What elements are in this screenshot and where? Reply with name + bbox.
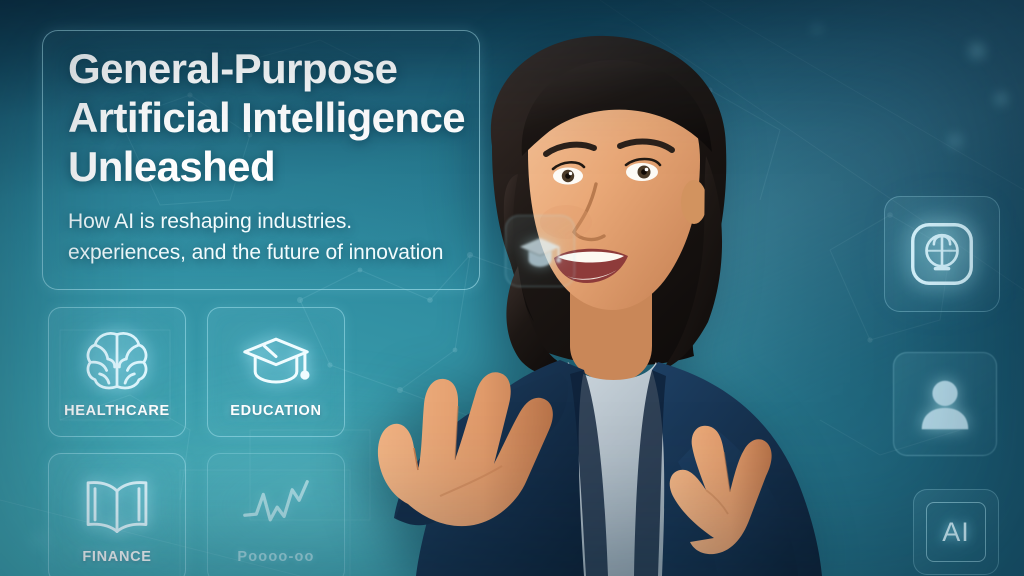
floating-idea-badge[interactable] [884, 196, 1000, 312]
user-silhouette-icon [914, 373, 976, 435]
category-label: Poooo-oo [237, 549, 314, 565]
category-label: HEALTHCARE [64, 403, 170, 419]
category-card-finance[interactable]: FINANCE [48, 453, 186, 576]
eye-highlight-right [645, 168, 649, 172]
floating-ai-badge[interactable]: AI [913, 489, 999, 575]
graduation-cap-icon [239, 323, 313, 397]
category-card-analytics[interactable]: Poooo-oo [207, 453, 345, 576]
floating-user-badge[interactable] [893, 352, 997, 456]
open-book-icon [80, 469, 154, 543]
bokeh-dot [940, 126, 970, 156]
category-label: EDUCATION [230, 403, 321, 419]
ear [681, 180, 707, 224]
graduation-cap-icon [517, 228, 563, 274]
floating-graduation-cap-badge[interactable] [505, 215, 575, 287]
ai-badge-label: AI [942, 517, 970, 548]
bokeh-dot [988, 86, 1014, 112]
eye-highlight-left [569, 172, 572, 175]
page-title: General-Purpose Artificial Intelligence … [68, 44, 538, 191]
brain-icon [80, 323, 154, 397]
lightbulb-idea-icon [903, 215, 981, 293]
poster-canvas: General-Purpose Artificial Intelligence … [0, 0, 1024, 576]
category-label: FINANCE [82, 549, 151, 565]
line-chart-icon [239, 469, 313, 543]
ai-badge-inner-frame: AI [926, 502, 986, 562]
category-card-education[interactable]: EDUCATION [207, 307, 345, 437]
category-card-healthcare[interactable]: HEALTHCARE [48, 307, 186, 437]
page-subtitle: How AI is reshaping industries. experien… [68, 206, 538, 268]
bokeh-dot [960, 34, 994, 68]
